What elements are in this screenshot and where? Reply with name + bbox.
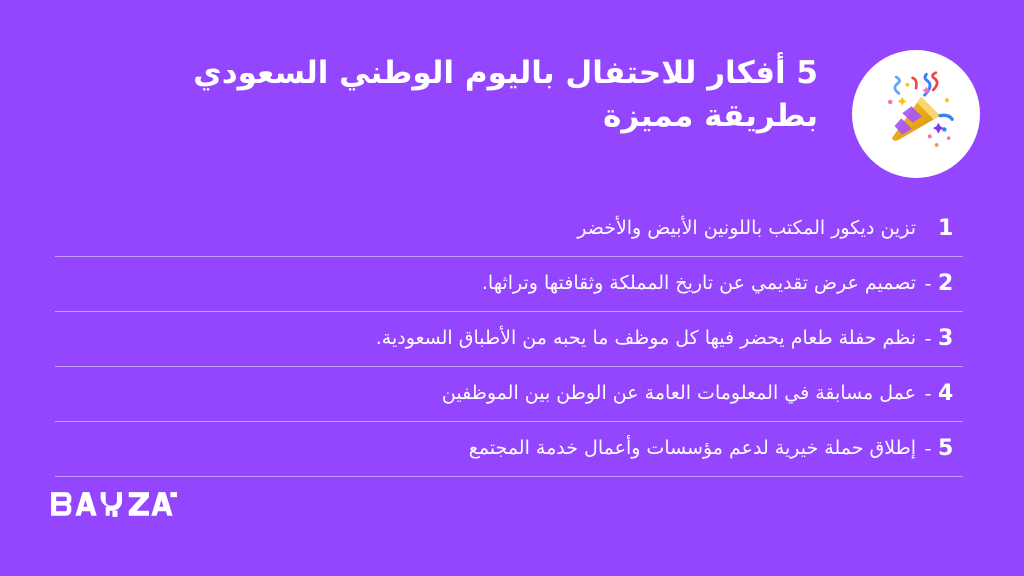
list-item-number: 1 (936, 218, 966, 240)
bayzat-wordmark-icon (50, 491, 177, 518)
party-popper-icon (873, 71, 959, 157)
bayzat-logo: BAYZAT (50, 489, 177, 519)
list-item-dash: - (920, 275, 936, 294)
list-item-dash: - (920, 385, 936, 404)
list-item-text: نظم حفلة طعام يحضر فيها كل موظف ما يحبه … (55, 326, 920, 352)
header: 5 أفكار للاحتفال باليوم الوطني السعودي ب… (60, 52, 966, 182)
list-item: 5 - إطلاق حملة خيرية لدعم مؤسسات وأعمال … (55, 422, 966, 476)
title-line-2: بطريقة مميزة (60, 95, 818, 138)
list-item-text: تصميم عرض تقديمي عن تاريخ المملكة وثقافت… (55, 271, 920, 297)
list-item: 3 - نظم حفلة طعام يحضر فيها كل موظف ما ي… (55, 312, 966, 366)
list-divider (55, 476, 963, 477)
list-item: 2 - تصميم عرض تقديمي عن تاريخ المملكة وث… (55, 257, 966, 311)
list-item-number: 5 (936, 438, 966, 460)
list-item-number: 2 (936, 273, 966, 295)
page-title: 5 أفكار للاحتفال باليوم الوطني السعودي ب… (60, 52, 818, 138)
list-item-text: إطلاق حملة خيرية لدعم مؤسسات وأعمال خدمة… (55, 436, 920, 462)
list-item-text: عمل مسابقة في المعلومات العامة عن الوطن … (55, 381, 920, 407)
list-item: 1 تزين ديكور المكتب باللونين الأبيض والأ… (55, 202, 966, 256)
medallion-circle (852, 50, 980, 178)
ideas-list: 1 تزين ديكور المكتب باللونين الأبيض والأ… (55, 202, 966, 477)
list-item: 4 - عمل مسابقة في المعلومات العامة عن ال… (55, 367, 966, 421)
title-line-1: 5 أفكار للاحتفال باليوم الوطني السعودي (60, 52, 818, 95)
list-item-number: 3 (936, 328, 966, 350)
list-item-number: 4 (936, 383, 966, 405)
list-item-dash: - (920, 330, 936, 349)
list-item-dash: - (920, 440, 936, 459)
list-item-text: تزين ديكور المكتب باللونين الأبيض والأخض… (55, 216, 920, 242)
slide-canvas: 5 أفكار للاحتفال باليوم الوطني السعودي ب… (0, 0, 1024, 576)
